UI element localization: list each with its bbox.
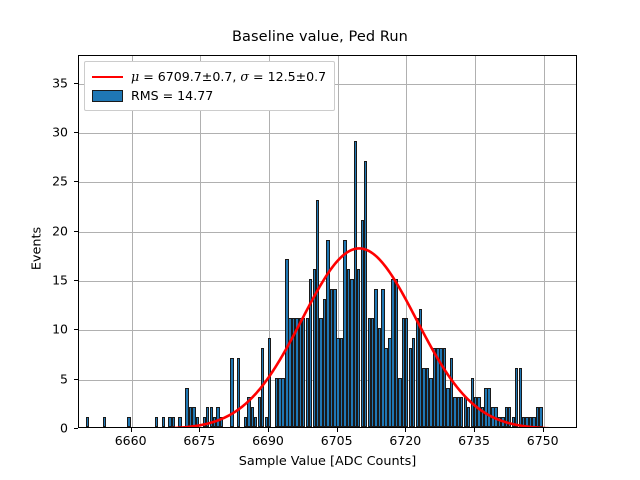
- y-tick-label: 5: [0, 371, 68, 386]
- legend-item-rms: RMS = 14.77: [92, 86, 326, 105]
- histogram-bar: [261, 348, 264, 427]
- histogram-bars: [79, 56, 576, 427]
- legend-patch-swatch-icon: [92, 90, 123, 102]
- histogram-bar: [103, 417, 106, 427]
- x-tick-mark: [199, 428, 200, 432]
- histogram-bar: [268, 338, 271, 427]
- y-tick-mark: [74, 83, 78, 84]
- histogram-bar: [178, 417, 181, 427]
- x-tick-mark: [543, 428, 544, 432]
- histogram-bar: [237, 358, 240, 427]
- x-tick-label: 6750: [527, 433, 559, 448]
- legend: μ = 6709.7±0.7, σ = 12.5±0.7 RMS = 14.77: [84, 61, 335, 111]
- x-tick-label: 6735: [458, 433, 490, 448]
- y-tick-mark: [74, 280, 78, 281]
- y-axis-label: Events: [30, 199, 45, 299]
- histogram-bar: [127, 417, 130, 427]
- histogram-bar: [196, 417, 199, 427]
- x-tick-mark: [268, 428, 269, 432]
- y-tick-mark: [74, 379, 78, 380]
- y-tick-mark: [74, 428, 78, 429]
- y-tick-mark: [74, 132, 78, 133]
- x-tick-label: 6690: [252, 433, 284, 448]
- x-tick-label: 6660: [115, 433, 147, 448]
- y-tick-mark: [74, 181, 78, 182]
- x-tick-mark: [474, 428, 475, 432]
- y-tick-label: 0: [0, 421, 68, 436]
- x-tick-label: 6720: [389, 433, 421, 448]
- legend-item-fit: μ = 6709.7±0.7, σ = 12.5±0.7: [92, 67, 326, 86]
- histogram-bar: [220, 417, 223, 427]
- histogram-bar: [155, 417, 158, 427]
- x-tick-mark: [131, 428, 132, 432]
- x-tick-mark: [405, 428, 406, 432]
- y-tick-label: 35: [0, 75, 68, 90]
- x-tick-label: 6675: [183, 433, 215, 448]
- histogram-bar: [86, 417, 89, 427]
- y-tick-label: 30: [0, 124, 68, 139]
- legend-label-fit: μ = 6709.7±0.7, σ = 12.5±0.7: [131, 69, 326, 84]
- histogram-bar: [230, 358, 233, 427]
- legend-line-swatch-icon: [92, 76, 123, 78]
- page-title: Baseline value, Ped Run: [0, 29, 640, 45]
- y-tick-mark: [74, 231, 78, 232]
- x-tick-mark: [337, 428, 338, 432]
- legend-label-rms: RMS = 14.77: [131, 88, 213, 103]
- histogram-bar: [172, 417, 175, 427]
- histogram-bar: [162, 417, 165, 427]
- x-axis-label: Sample Value [ADC Counts]: [78, 454, 577, 469]
- y-tick-mark: [74, 329, 78, 330]
- chart-figure: Baseline value, Ped Run 6660667566906705…: [0, 0, 640, 480]
- y-tick-label: 25: [0, 174, 68, 189]
- x-tick-label: 6705: [321, 433, 353, 448]
- y-tick-label: 10: [0, 322, 68, 337]
- histogram-bar: [539, 407, 542, 427]
